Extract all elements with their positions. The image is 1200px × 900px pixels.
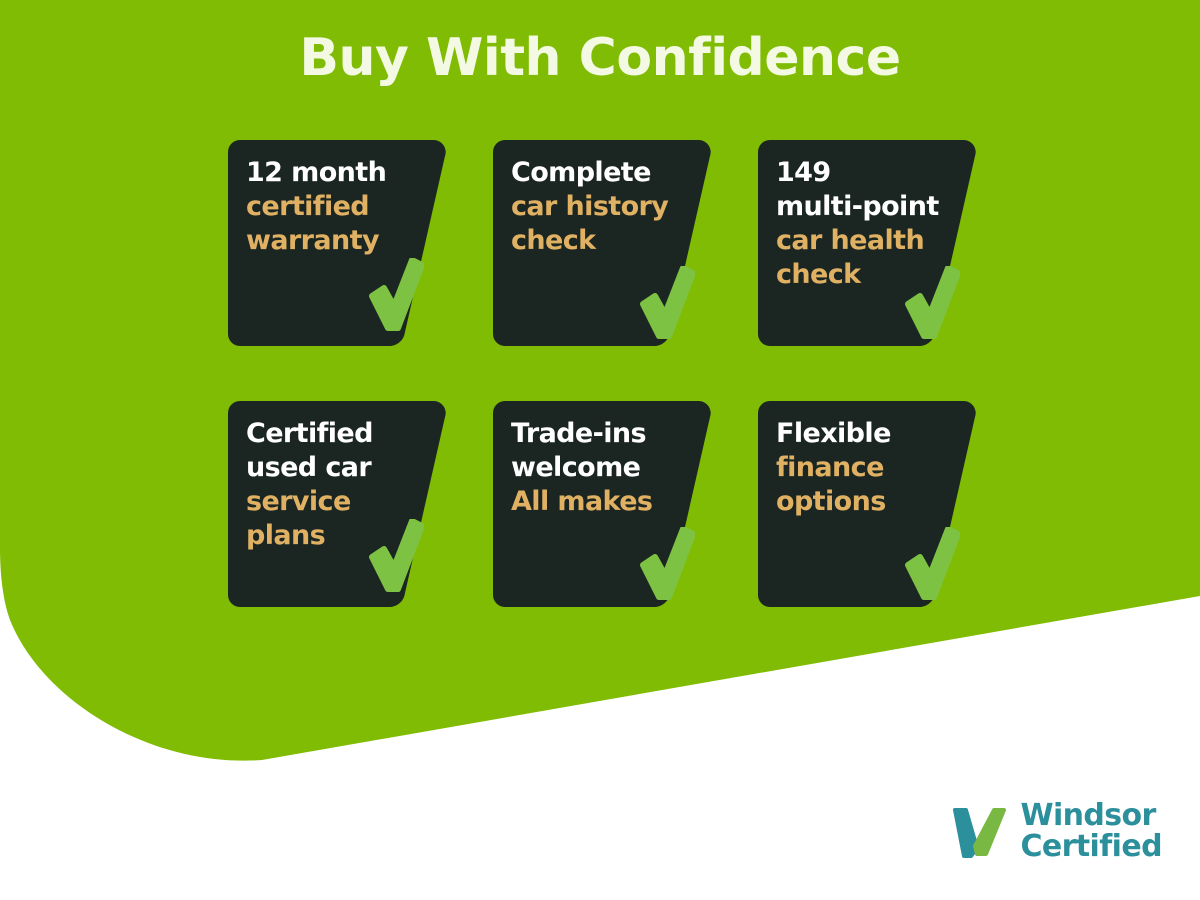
card-line: All makes [511, 485, 689, 519]
benefit-card-warranty[interactable]: 12 month certified warranty [228, 140, 446, 346]
card-line: car health [776, 224, 954, 258]
benefit-card-service-plans[interactable]: Certified used car service plans [228, 401, 446, 607]
benefit-card-finance[interactable]: Flexible finance options [758, 401, 976, 607]
card-text-block: Complete car history check [511, 156, 689, 258]
card-text-block: Flexible finance options [776, 417, 954, 519]
logo-line-certified: Certified [1020, 831, 1162, 862]
card-line: options [776, 485, 954, 519]
green-check-icon [368, 519, 424, 593]
card-line: multi-point [776, 190, 954, 224]
green-check-icon [368, 258, 424, 332]
card-line: Flexible [776, 417, 954, 451]
benefit-card-history-check[interactable]: Complete car history check [493, 140, 711, 346]
card-line: Trade-ins [511, 417, 689, 451]
card-text-block: Trade-ins welcome All makes [511, 417, 689, 519]
benefit-card-grid: 12 month certified warranty Complete car… [228, 140, 976, 607]
card-line: finance [776, 451, 954, 485]
benefit-card-trade-ins[interactable]: Trade-ins welcome All makes [493, 401, 711, 607]
windsor-w-icon [950, 802, 1008, 860]
logo-line-windsor: Windsor [1020, 800, 1162, 831]
card-line: welcome [511, 451, 689, 485]
windsor-certified-logo[interactable]: Windsor Certified [950, 800, 1162, 862]
card-line: warranty [246, 224, 424, 258]
card-line: certified [246, 190, 424, 224]
card-line: check [511, 224, 689, 258]
benefit-card-health-check[interactable]: 149 multi-point car health check [758, 140, 976, 346]
page-title: Buy With Confidence [0, 26, 1200, 90]
green-check-icon [904, 266, 960, 340]
promo-graphic: Buy With Confidence 12 month certified w… [0, 0, 1200, 900]
card-text-block: 12 month certified warranty [246, 156, 424, 258]
green-check-icon [904, 527, 960, 601]
card-line: 149 [776, 156, 954, 190]
card-line: used car [246, 451, 424, 485]
logo-wordmark: Windsor Certified [1020, 800, 1162, 862]
card-line: service [246, 485, 424, 519]
card-line: car history [511, 190, 689, 224]
green-check-icon [639, 527, 695, 601]
card-line: 12 month [246, 156, 424, 190]
card-line: Complete [511, 156, 689, 190]
green-check-icon [639, 266, 695, 340]
card-line: Certified [246, 417, 424, 451]
